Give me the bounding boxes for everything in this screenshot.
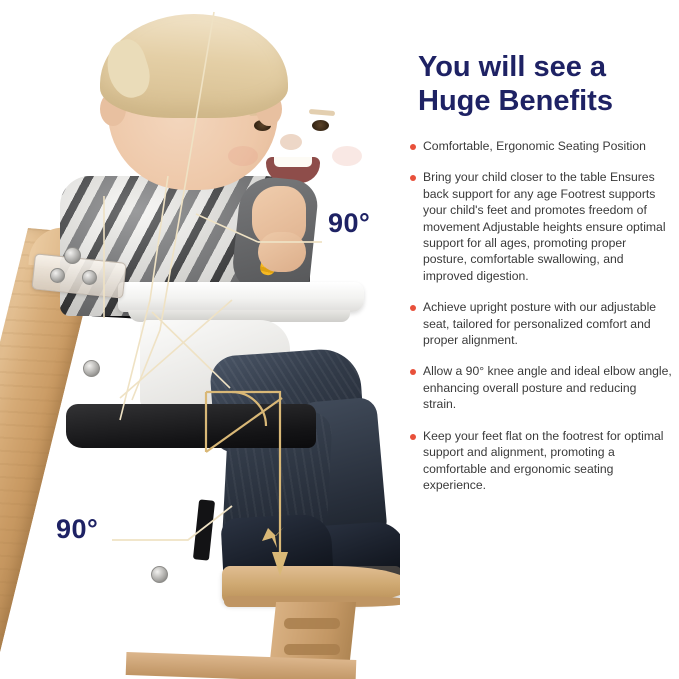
- benefit-text: Keep your feet flat on the footrest for …: [423, 428, 672, 494]
- bullet-dot-icon: [410, 434, 416, 440]
- child-hair: [100, 14, 288, 118]
- chair-harness-strap: [193, 499, 215, 560]
- panel-headline: You will see a Huge Benefits: [418, 50, 674, 118]
- child-nose: [280, 134, 302, 150]
- child-eye-right: [312, 120, 329, 131]
- chair-seat-pad: [66, 404, 316, 448]
- footrest-notch: [284, 618, 340, 629]
- bullet-dot-icon: [410, 369, 416, 375]
- chair-tray: [118, 282, 364, 312]
- child-cheek-left: [228, 146, 258, 166]
- benefits-panel: You will see a Huge Benefits Comfortable…: [400, 0, 679, 679]
- product-photo: 90° 90°: [0, 0, 400, 679]
- list-item: Keep your feet flat on the footrest for …: [404, 428, 672, 494]
- list-item: Bring your child closer to the table Ens…: [404, 169, 672, 284]
- bullet-dot-icon: [410, 305, 416, 311]
- benefit-text: Allow a 90° knee angle and ideal elbow a…: [423, 363, 672, 412]
- child-teeth: [274, 157, 312, 167]
- footrest-notch: [284, 644, 340, 655]
- benefit-text: Comfortable, Ergonomic Seating Position: [423, 138, 646, 154]
- product-infographic: 90° 90° You will see a Huge Benefits Com…: [0, 0, 679, 679]
- benefit-text: Achieve upright posture with our adjusta…: [423, 299, 672, 348]
- list-item: Achieve upright posture with our adjusta…: [404, 299, 672, 348]
- chair-screw: [83, 360, 100, 377]
- bullet-dot-icon: [410, 175, 416, 181]
- list-item: Allow a 90° knee angle and ideal elbow a…: [404, 363, 672, 412]
- child-hand-lower: [258, 232, 306, 272]
- benefits-list: Comfortable, Ergonomic Seating Position …: [404, 138, 672, 508]
- list-item: Comfortable, Ergonomic Seating Position: [404, 138, 672, 154]
- chair-screw: [50, 268, 65, 283]
- chair-screw: [64, 247, 81, 264]
- child-eyebrow-right: [309, 109, 335, 116]
- angle-label-elbow: 90°: [328, 208, 370, 239]
- chair-screw: [151, 566, 168, 583]
- bullet-dot-icon: [410, 144, 416, 150]
- chair-screw: [82, 270, 97, 285]
- benefit-text: Bring your child closer to the table Ens…: [423, 169, 672, 284]
- angle-label-knee: 90°: [56, 514, 98, 545]
- child-cheek-right: [332, 146, 362, 166]
